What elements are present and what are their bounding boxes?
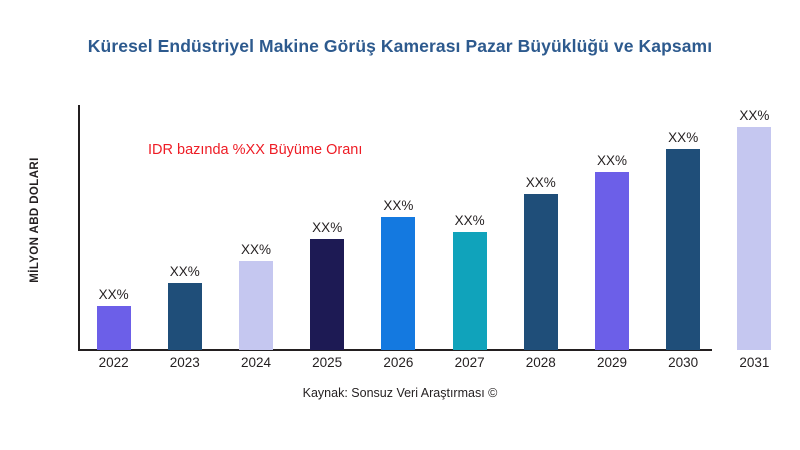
bar-value-label: XX% [170,264,200,279]
bar-rect[interactable] [381,217,415,350]
bar-group[interactable]: XX% [595,172,629,350]
bar-rect[interactable] [524,194,558,350]
x-tick-label: 2030 [653,355,713,370]
x-tick-label: 2027 [440,355,500,370]
bar-rect[interactable] [97,306,131,350]
bar-value-label: XX% [241,242,271,257]
source-note: Kaynak: Sonsuz Veri Araştırması © [0,386,800,400]
bar-value-label: XX% [668,130,698,145]
x-tick-label: 2026 [368,355,428,370]
x-tick-label: 2029 [582,355,642,370]
bar-rect[interactable] [310,239,344,350]
bar-value-label: XX% [597,153,627,168]
bar-group[interactable]: XX% [524,194,558,350]
bar-value-label: XX% [99,287,129,302]
bar-group[interactable]: XX% [453,232,487,350]
x-tick-label: 2022 [84,355,144,370]
bar-rect[interactable] [737,127,771,350]
bar-rect[interactable] [168,283,202,350]
x-tick-label: 2028 [511,355,571,370]
bar-group[interactable]: XX% [381,217,415,350]
bar-rect[interactable] [239,261,273,350]
growth-rate-annotation: IDR bazında %XX Büyüme Oranı [148,142,362,158]
bar-rect[interactable] [666,149,700,350]
bar-value-label: XX% [739,108,769,123]
bars-layer: XX%2022XX%2023XX%2024XX%2025XX%2026XX%20… [0,0,800,450]
bar-value-label: XX% [526,175,556,190]
x-tick-label: 2025 [297,355,357,370]
bar-value-label: XX% [312,220,342,235]
bar-group[interactable]: XX% [737,127,771,350]
x-tick-label: 2023 [155,355,215,370]
bar-group[interactable]: XX% [666,149,700,350]
bar-group[interactable]: XX% [310,239,344,350]
bar-group[interactable]: XX% [239,261,273,350]
x-tick-label: 2031 [724,355,784,370]
chart-container: Küresel Endüstriyel Makine Görüş Kameras… [0,0,800,450]
bar-group[interactable]: XX% [168,283,202,350]
bar-rect[interactable] [595,172,629,350]
bar-rect[interactable] [453,232,487,350]
bar-value-label: XX% [455,213,485,228]
x-tick-label: 2024 [226,355,286,370]
bar-group[interactable]: XX% [97,306,131,350]
bar-value-label: XX% [383,198,413,213]
